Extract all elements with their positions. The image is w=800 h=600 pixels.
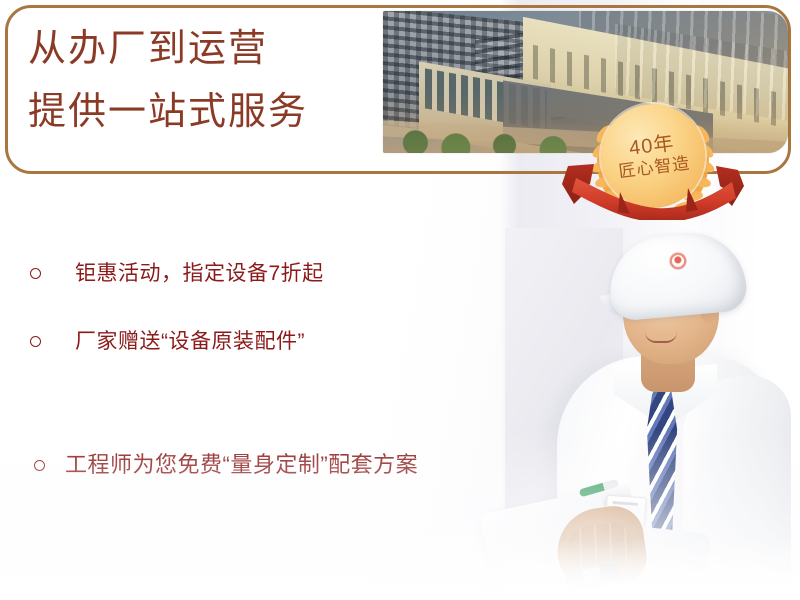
- bullet-text-2: 厂家赠送“设备原装配件”: [75, 330, 305, 353]
- anniversary-badge: 40年 匠心智造: [568, 96, 738, 226]
- bullet-circle-icon: [30, 336, 41, 347]
- headline-line-2: 提供一站式服务: [28, 85, 368, 140]
- poster-headline: 从办厂到运营 提供一站式服务: [28, 22, 368, 141]
- bottom-white-fade: [0, 430, 800, 600]
- headline-line-1: 从办厂到运营: [28, 22, 368, 77]
- promo-poster: 从办厂到运营 提供一站式服务: [0, 0, 800, 600]
- bullet-text-1: 钜惠活动，指定设备7折起: [75, 262, 324, 285]
- white-hardhat: [606, 228, 749, 322]
- red-ribbon-banner: [560, 162, 746, 220]
- bullet-circle-icon: [30, 268, 41, 279]
- list-item: 钜惠活动，指定设备7折起: [30, 262, 520, 285]
- list-item: 厂家赠送“设备原装配件”: [30, 330, 520, 353]
- hardhat-logo-icon: [664, 249, 692, 274]
